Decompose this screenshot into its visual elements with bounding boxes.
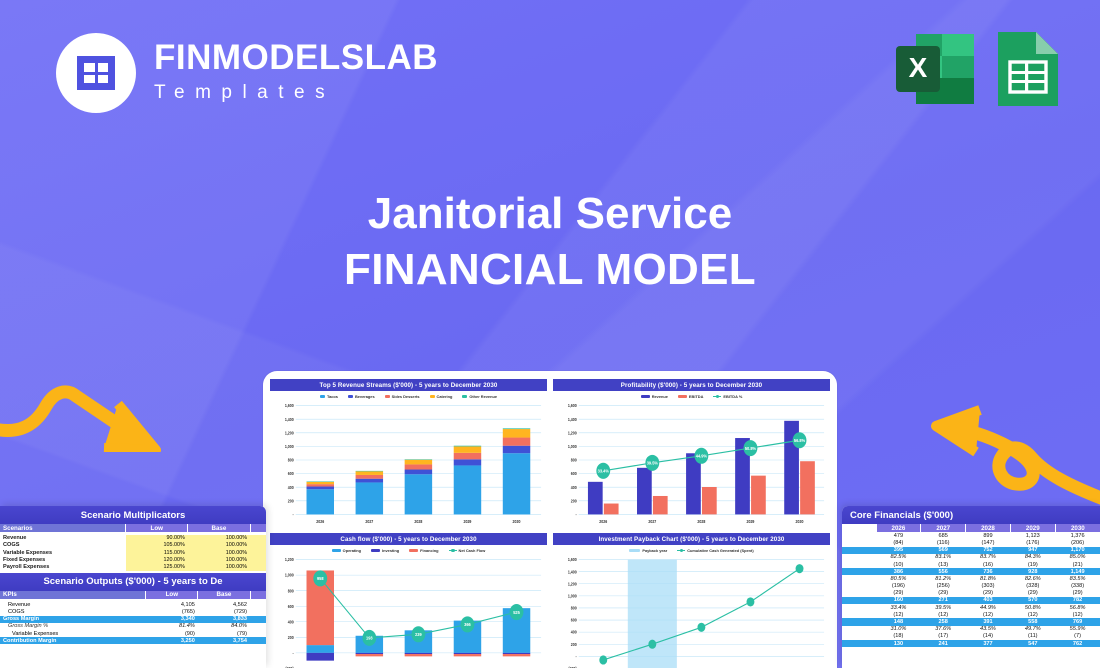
table-cell: 928 [1010,568,1055,575]
cell-base: 4,562 [198,601,250,608]
table-cell: 391 [966,618,1011,625]
legend-item-ebitda: EBITDA [689,394,703,399]
table-cell: 1,149 [1055,568,1100,575]
table-cell: 899 [966,532,1011,539]
table-cell: 1,376 [1055,532,1100,539]
row-label: Payroll Expenses [0,563,126,570]
svg-text:800: 800 [288,589,294,593]
brand-name: FINMODELSLAB [154,40,438,77]
table-row[interactable]: Payroll Expenses125.00%100.00% [0,563,266,570]
svg-text:44.9%: 44.9% [696,453,707,458]
table-cell: 81.2% [921,575,966,582]
table-cell: 37.6% [921,626,966,633]
table-cell: (14) [966,633,1011,640]
table-cell: (84) [876,539,921,546]
col-blank [842,524,876,532]
svg-text:2027: 2027 [648,520,656,524]
table-row[interactable]: 130241377547762 [842,640,1100,647]
scenario-outputs-title: Scenario Outputs ($'000) - 5 years to De [0,573,266,591]
table-cell: (10) [876,561,921,568]
table-row[interactable]: COGS(765)(729) [0,609,266,616]
svg-text:2029: 2029 [747,520,755,524]
svg-text:2030: 2030 [513,520,521,524]
table-cell: 85.0% [1055,554,1100,561]
svg-text:600: 600 [571,472,577,476]
row-label: Gross Margin % [0,623,146,630]
table-cell: (256) [921,583,966,590]
svg-text:2027: 2027 [365,520,373,524]
svg-text:39.5%: 39.5% [647,460,658,465]
cell-base: 84.0% [198,623,250,630]
table-row[interactable]: 4796858991,1231,376 [842,532,1100,539]
row-label: Gross Margin [0,616,146,623]
cell-low: 105.00% [126,542,188,549]
row-label-blank [842,597,876,604]
chart-legend-cashflow: Operating Investing Financing Net Cash F… [270,545,547,555]
table-row[interactable]: 33.4%39.5%44.9%50.8%56.8% [842,604,1100,611]
table-cell: 685 [921,532,966,539]
table-cell: 83.5% [1055,575,1100,582]
row-label: Variable Expenses [0,549,126,556]
cell-base: (79) [198,630,250,637]
svg-text:200: 200 [288,499,294,503]
svg-text:2029: 2029 [464,520,472,524]
table-cell: 82.6% [1010,575,1055,582]
cell-low: (765) [146,609,198,616]
col-base: Base [198,591,250,599]
table-cell: 1,170 [1055,547,1100,554]
grid-logo-icon [56,33,136,113]
table-cell: 50.8% [1010,604,1055,611]
cell-base: (729) [198,609,250,616]
svg-text:1,600: 1,600 [285,404,294,408]
row-label-blank [842,539,876,546]
svg-text:600: 600 [571,618,577,622]
row-label-blank [842,590,876,597]
table-cell: 49.7% [1010,626,1055,633]
cell-spill [250,542,266,549]
table-cell: 82.5% [876,554,921,561]
svg-text:239: 239 [415,632,422,637]
table-cell: 130 [876,640,921,647]
table-row[interactable]: (29)(29)(29)(29)(29) [842,590,1100,597]
svg-text:1,400: 1,400 [285,418,294,422]
table-cell: 395 [876,547,921,554]
row-label-blank [842,626,876,633]
table-row[interactable]: (18)(17)(14)(11)(7) [842,633,1100,640]
chart-plot-payback: (200)-2004006008001,0001,2001,4001,60020… [553,555,830,668]
cell-low: 120.00% [126,556,188,563]
cell-low: 3,340 [146,616,198,623]
cell-low: (90) [146,630,198,637]
row-label: Fixed Expenses [0,556,126,563]
chart-legend-revenue-streams: Tacos Beverages Sides Desserts Catering … [270,391,547,401]
table-cell: 83.7% [966,554,1011,561]
table-row[interactable]: Revenue4,1054,562 [0,601,266,608]
svg-text:200: 200 [571,499,577,503]
svg-text:800: 800 [288,458,294,462]
table-cell: (328) [1010,583,1055,590]
cell-low: 115.00% [126,549,188,556]
table-cell: (12) [921,611,966,618]
table-cell: (19) [1010,561,1055,568]
svg-text:1,000: 1,000 [285,574,294,578]
table-cell: 1,123 [1010,532,1055,539]
table-header-row: ScenariosLowBase [0,524,266,532]
svg-text:200: 200 [288,636,294,640]
table-cell: (17) [921,633,966,640]
svg-text:600: 600 [288,605,294,609]
cell-base: 3,754 [198,637,250,644]
table-cell: (12) [876,611,921,618]
svg-text:525: 525 [513,609,520,614]
table-cell: 386 [876,568,921,575]
scenario-outputs-table[interactable]: KPIsLowBaseRevenue4,1054,562COGS(765)(72… [0,591,266,645]
row-label-blank [842,554,876,561]
cell-base: 100.00% [188,549,250,556]
legend-item-sides-desserts: Sides Desserts [392,394,420,399]
row-label-blank [842,583,876,590]
chart-legend-profitability: Revenue EBITDA EBITDA % [553,391,830,401]
table-cell: 762 [1055,640,1100,647]
table-cell: 160 [876,597,921,604]
table-row[interactable]: 80.5%81.2%81.8%82.6%83.5% [842,575,1100,582]
table-cell: 31.0% [876,626,921,633]
table-cell: 769 [1055,618,1100,625]
svg-text:400: 400 [288,486,294,490]
legend-item-ebitda-pct: EBITDA % [723,394,742,399]
table-row[interactable]: 160271403570782 [842,597,1100,604]
table-row[interactable]: (12)(12)(12)(12)(12) [842,611,1100,618]
table-cell: 271 [921,597,966,604]
table-cell: 44.9% [966,604,1011,611]
table-cell: 569 [921,547,966,554]
table-cell: (12) [966,611,1011,618]
table-cell: 241 [921,640,966,647]
svg-text:200: 200 [571,643,577,647]
title-line-2: FINANCIAL MODEL [0,242,1100,298]
cell-low: 4,105 [146,601,198,608]
google-sheets-icon [992,28,1064,110]
table-cell: 43.5% [966,626,1011,633]
svg-text:1,400: 1,400 [568,418,577,422]
table-cell: (147) [966,539,1011,546]
cell-low: 90.00% [126,535,188,542]
table-cell: (29) [1055,590,1100,597]
svg-text:1,600: 1,600 [568,558,577,562]
svg-text:X: X [909,52,928,83]
col-year: 2028 [966,524,1011,532]
svg-text:600: 600 [288,472,294,476]
table-cell: (29) [921,590,966,597]
svg-text:33.4%: 33.4% [598,468,609,473]
table-cell: (338) [1055,583,1100,590]
row-label-blank [842,568,876,575]
legend-item-tacos: Tacos [327,394,338,399]
svg-text:958: 958 [317,576,324,581]
table-header-row: KPIsLowBase [0,591,266,599]
table-row[interactable]: Gross Margin3,3403,833 [0,616,266,623]
table-cell: 33.4% [876,604,921,611]
chart-title-cashflow: Cash flow ($'000) - 5 years to December … [270,533,547,545]
table-row[interactable]: Revenue90.00%100.00% [0,535,266,542]
table-cell: (116) [921,539,966,546]
cell-base: 100.00% [188,556,250,563]
row-label: Revenue [0,601,146,608]
table-row[interactable]: (10)(13)(16)(19)(21) [842,561,1100,568]
table-row[interactable]: 148258391558769 [842,618,1100,625]
chart-panel-profitability: Profitability ($'000) - 5 years to Decem… [553,379,830,527]
legend-item-financing: Financing [420,548,438,553]
table-cell: 56.8% [1055,604,1100,611]
table-row[interactable]: 31.0%37.6%43.5%49.7%55.9% [842,626,1100,633]
svg-text:800: 800 [571,458,577,462]
table-cell: 570 [1010,597,1055,604]
table-cell: 556 [921,568,966,575]
svg-text:-: - [576,655,578,659]
col-scenarios: Scenarios [0,524,126,532]
table-row[interactable]: 3865567369281,149 [842,568,1100,575]
table-cell: 752 [966,547,1011,554]
table-cell: (206) [1055,539,1100,546]
chart-panel-payback: Investment Payback Chart ($'000) - 5 yea… [553,533,830,668]
table-cell: 947 [1010,547,1055,554]
cell-low: 81.4% [146,623,198,630]
core-financials-table[interactable]: 202620272028202920304796858991,1231,376(… [842,524,1100,647]
cell-base: 100.00% [188,542,250,549]
table-cell: (12) [1055,611,1100,618]
cell-spill [250,563,266,570]
table-cell: 736 [966,568,1011,575]
svg-text:-: - [576,513,578,517]
col-low: Low [126,524,188,532]
svg-text:2028: 2028 [697,520,706,524]
table-cell: 547 [1010,640,1055,647]
table-cell: (303) [966,583,1011,590]
spreadsheet-scenario-panel[interactable]: Scenario Multiplicators ScenariosLowBase… [0,506,266,668]
scenario-multiplicators-title: Scenario Multiplicators [0,506,266,524]
table-cell: 782 [1055,597,1100,604]
dashboard-card: Top 5 Revenue Streams ($'000) - 5 years … [263,371,837,668]
legend-item-other-revenue: Other Revenue [469,394,497,399]
table-cell: 377 [966,640,1011,647]
chart-plot-revenue-streams: -2004006008001,0001,2001,4001,6002026202… [270,401,547,527]
table-cell: 479 [876,532,921,539]
row-label: Variable Expenses [0,630,146,637]
row-label-blank [842,575,876,582]
table-row[interactable]: (84)(116)(147)(176)(206) [842,539,1100,546]
table-row[interactable]: 82.5%83.1%83.7%84.3%85.0% [842,554,1100,561]
cell-base: 100.00% [188,535,250,542]
table-row[interactable]: Contribution Margin3,2503,754 [0,637,266,644]
table-cell: (11) [1010,633,1055,640]
svg-text:-: - [293,513,295,517]
row-label-blank [842,640,876,647]
cell-spill [250,601,266,608]
cell-low: 3,250 [146,637,198,644]
svg-text:1,000: 1,000 [285,445,294,449]
legend-item-payback-year: Payback year [642,548,667,553]
col-low: Low [146,591,198,599]
svg-text:366: 366 [464,622,471,627]
table-cell: (29) [1010,590,1055,597]
table-row[interactable]: Gross Margin %81.4%84.0% [0,623,266,630]
table-row[interactable]: Fixed Expenses120.00%100.00% [0,556,266,563]
cell-base: 3,833 [198,616,250,623]
table-cell: (29) [966,590,1011,597]
cell-spill [250,535,266,542]
svg-text:56.8%: 56.8% [794,438,805,443]
scenario-multiplicators-table[interactable]: ScenariosLowBaseRevenue90.00%100.00%COGS… [0,524,266,571]
title-line-1: Janitorial Service [0,186,1100,242]
svg-text:1,400: 1,400 [568,570,577,574]
chart-plot-profitability: -2004006008001,0001,2001,4001,6002026202… [553,401,830,527]
file-format-icons: X [894,28,1064,110]
col-year: 2030 [1055,524,1100,532]
svg-text:2030: 2030 [796,520,804,524]
row-label: COGS [0,609,146,616]
row-label-blank [842,547,876,554]
excel-icon: X [894,28,976,110]
table-cell: (21) [1055,561,1100,568]
col-spill [250,591,266,599]
svg-text:1,200: 1,200 [568,431,577,435]
table-cell: (7) [1055,633,1100,640]
table-cell: (12) [1010,611,1055,618]
svg-text:50.8%: 50.8% [745,446,756,451]
svg-text:2028: 2028 [414,520,423,524]
svg-text:193: 193 [366,635,373,640]
chart-legend-payback: Payback year Cumulative Cash Generated (… [553,545,830,555]
row-label: Revenue [0,535,126,542]
svg-text:400: 400 [288,620,294,624]
table-cell: (16) [966,561,1011,568]
decorative-arrow-right-icon [910,400,1100,510]
row-label: COGS [0,542,126,549]
row-label-blank [842,611,876,618]
svg-text:1,000: 1,000 [568,445,577,449]
chart-title-payback: Investment Payback Chart ($'000) - 5 yea… [553,533,830,545]
core-financials-title: Core Financials ($'000) [842,506,1100,524]
row-label-blank [842,532,876,539]
chart-title-revenue-streams: Top 5 Revenue Streams ($'000) - 5 years … [270,379,547,391]
cell-spill [250,609,266,616]
table-cell: 84.3% [1010,554,1055,561]
table-row[interactable]: Variable Expenses(90)(79) [0,630,266,637]
col-base: Base [188,524,250,532]
chart-panel-cashflow: Cash flow ($'000) - 5 years to December … [270,533,547,668]
row-label-blank [842,618,876,625]
row-label-blank [842,561,876,568]
table-header-row: 20262027202820292030 [842,524,1100,532]
row-label-blank [842,633,876,640]
table-cell: 55.9% [1055,626,1100,633]
brand-logo: FINMODELSLAB Templates [56,33,438,113]
table-cell: (18) [876,633,921,640]
page-title: Janitorial Service FINANCIAL MODEL [0,186,1100,299]
chart-title-profitability: Profitability ($'000) - 5 years to Decem… [553,379,830,391]
svg-text:1,200: 1,200 [285,431,294,435]
table-row[interactable]: Variable Expenses115.00%100.00% [0,549,266,556]
legend-item-beverages: Beverages [355,394,375,399]
svg-text:1,600: 1,600 [568,404,577,408]
legend-item-operating: Operating [343,548,361,553]
legend-item-catering: Catering [437,394,453,399]
svg-text:-: - [293,651,295,655]
table-cell: 39.5% [921,604,966,611]
chart-plot-cashflow: (200)-2004006008001,0001,200202620272028… [270,555,547,668]
col-year: 2029 [1010,524,1055,532]
col-year: 2026 [876,524,921,532]
legend-item-investing: Investing [382,548,399,553]
svg-text:1,200: 1,200 [285,558,294,562]
table-cell: 148 [876,618,921,625]
table-row[interactable]: 3955697529471,170 [842,547,1100,554]
decorative-arrow-left-icon [0,352,185,452]
svg-text:2026: 2026 [316,520,324,524]
svg-text:400: 400 [571,631,577,635]
svg-text:1,200: 1,200 [568,582,577,586]
row-label-blank [842,604,876,611]
legend-item-cumulative-cash: Cumulative Cash Generated (Spent) [687,548,753,553]
cell-low: 125.00% [126,563,188,570]
table-row[interactable]: (196)(256)(303)(328)(338) [842,583,1100,590]
table-cell: 403 [966,597,1011,604]
cell-spill [250,616,266,623]
legend-item-net-cash-flow: Net Cash Flow [459,548,486,553]
svg-text:400: 400 [571,486,577,490]
cell-base: 100.00% [188,563,250,570]
table-cell: (176) [1010,539,1055,546]
table-cell: 558 [1010,618,1055,625]
cell-spill [250,637,266,644]
table-cell: (196) [876,583,921,590]
cell-spill [250,623,266,630]
row-label: Contribution Margin [0,637,146,644]
spreadsheet-core-financials-panel[interactable]: Core Financials ($'000) 2026202720282029… [842,506,1100,668]
brand-subtitle: Templates [154,77,438,107]
table-cell: 80.5% [876,575,921,582]
cell-spill [250,630,266,637]
svg-text:2026: 2026 [599,520,607,524]
svg-text:800: 800 [571,606,577,610]
col-kpis: KPIs [0,591,146,599]
cell-spill [250,549,266,556]
table-cell: 81.8% [966,575,1011,582]
table-row[interactable]: COGS105.00%100.00% [0,542,266,549]
cell-spill [250,556,266,563]
table-cell: (29) [876,590,921,597]
svg-text:1,000: 1,000 [568,594,577,598]
table-cell: (13) [921,561,966,568]
chart-panel-revenue-streams: Top 5 Revenue Streams ($'000) - 5 years … [270,379,547,527]
col-year: 2027 [921,524,966,532]
table-cell: 83.1% [921,554,966,561]
legend-item-revenue: Revenue [652,394,668,399]
table-cell: 258 [921,618,966,625]
col-spill [250,524,266,532]
